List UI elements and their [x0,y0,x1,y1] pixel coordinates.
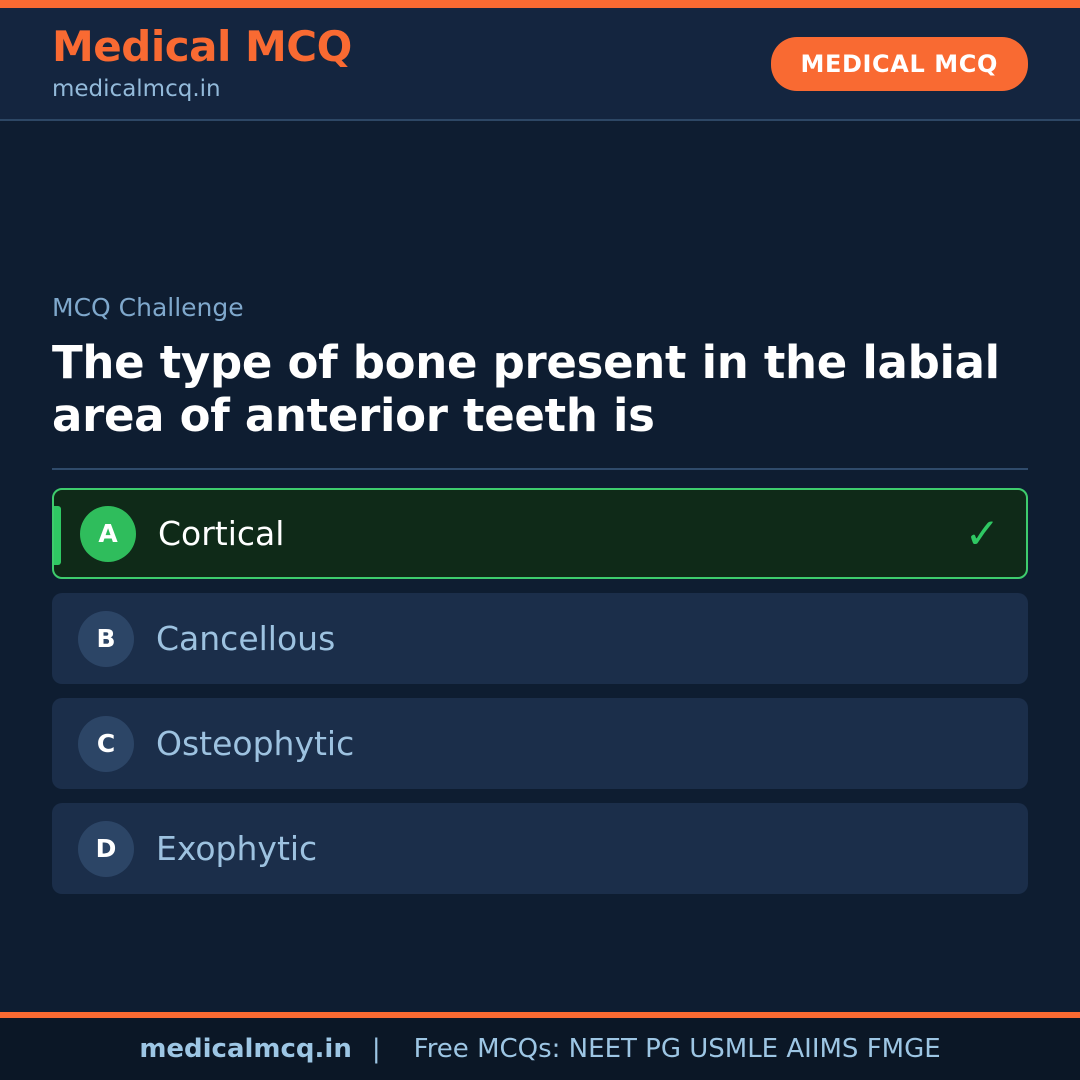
page-header: Medical MCQ medicalmcq.in MEDICAL MCQ [0,8,1080,121]
question-kicker: MCQ Challenge [52,295,1028,320]
option-letter-badge: A [80,506,136,562]
correct-accent-bar [54,506,61,565]
option-label: Cortical [158,517,284,550]
mcq-card: Medical MCQ medicalmcq.in MEDICAL MCQ MC… [0,0,1080,1080]
question-divider [52,468,1028,470]
top-accent-rule [0,0,1080,8]
brand: Medical MCQ medicalmcq.in [52,26,352,101]
page-footer: medicalmcq.in | Free MCQs: NEET PG USMLE… [0,1018,1080,1080]
option-label: Osteophytic [156,727,354,760]
footer-tagline: Free MCQs: NEET PG USMLE AIIMS FMGE [401,1034,941,1064]
option-b[interactable]: B Cancellous [52,593,1028,684]
option-label: Cancellous [156,622,335,655]
brand-title: Medical MCQ [52,26,352,68]
option-label: Exophytic [156,832,317,865]
option-d[interactable]: D Exophytic [52,803,1028,894]
check-icon: ✓ [965,513,1000,555]
question-text: The type of bone present in the labial a… [52,337,1012,442]
main-content: MCQ Challenge The type of bone present i… [0,121,1080,1012]
option-letter-badge: B [78,611,134,667]
footer-site-link[interactable]: medicalmcq.in [139,1034,352,1064]
question-block: MCQ Challenge The type of bone present i… [52,295,1028,470]
option-letter-badge: D [78,821,134,877]
option-c[interactable]: C Osteophytic [52,698,1028,789]
options-list: A Cortical ✓ B Cancellous C Osteophytic … [52,488,1028,894]
brand-badge: MEDICAL MCQ [771,37,1028,91]
footer-separator: | [352,1034,401,1064]
option-a[interactable]: A Cortical ✓ [52,488,1028,579]
brand-subtitle: medicalmcq.in [52,78,352,101]
option-letter-badge: C [78,716,134,772]
